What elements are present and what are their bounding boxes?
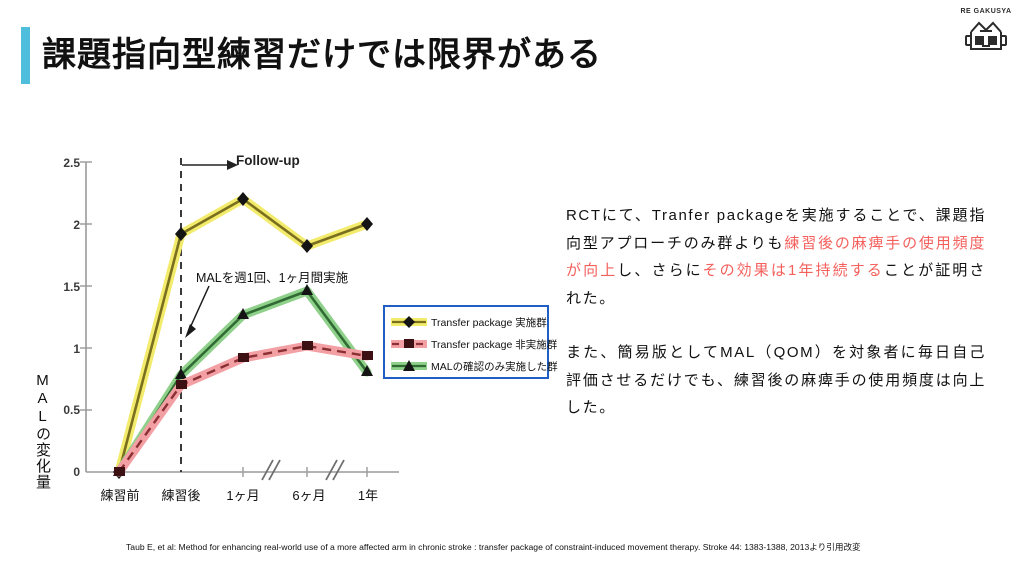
- paragraph-1-highlight-2: その効果は1年持続する: [702, 262, 883, 279]
- legend-label-non-transfer-package: Transfer package 非実施群: [431, 337, 557, 352]
- mal-protocol-arrow: [185, 286, 209, 338]
- legend-item-transfer-package: Transfer package 実施群: [391, 313, 547, 333]
- body-text-block: RCTにて、Tranfer packageを実施することで、課題指向型アプローチ…: [566, 202, 986, 422]
- slide-header: 課題指向型練習だけでは限界がある RE GAKUSYA: [0, 0, 1024, 100]
- x-axis-break-marks: [262, 460, 344, 480]
- paragraph-1: RCTにて、Tranfer packageを実施することで、課題指向型アプローチ…: [566, 202, 986, 312]
- legend-swatch-red-square: [391, 335, 427, 353]
- chart-legend: Transfer package 実施群 Transfer package 非実…: [383, 305, 549, 379]
- page-title: 課題指向型練習だけでは限界がある: [42, 28, 602, 82]
- series-mal-check-markers: [113, 284, 373, 476]
- follow-up-arrow: [182, 160, 238, 170]
- series-transfer-package-halo: [119, 199, 367, 472]
- legend-label-mal-check-only: MALの確認のみ実施した群: [431, 359, 558, 374]
- legend-swatch-yellow-diamond: [391, 313, 427, 331]
- title-accent-bar: [21, 27, 30, 84]
- citation-text: Taub E, et al: Method for enhancing real…: [126, 541, 946, 553]
- legend-swatch-green-triangle: [391, 357, 427, 375]
- legend-item-mal-check-only: MALの確認のみ実施した群: [391, 357, 547, 377]
- legend-label-transfer-package: Transfer package 実施群: [431, 315, 547, 330]
- paragraph-2: また、簡易版としてMAL（QOM）を対象者に毎日自己評価させるだけでも、練習後の…: [566, 339, 986, 422]
- logo-text: RE GAKUSYA: [958, 8, 1014, 15]
- brand-logo: RE GAKUSYA: [958, 8, 1014, 56]
- legend-item-non-transfer-package: Transfer package 非実施群: [391, 335, 547, 355]
- paragraph-1-part-2: し、さらに: [617, 262, 702, 279]
- building-logo-icon: [964, 18, 1008, 54]
- mal-change-line-chart: MALの変化量 2.5 2 1.5 1 0.5 0 練習前 練習後 1ヶ月 6ヶ…: [24, 140, 564, 515]
- series-non-transfer-markers: [114, 341, 373, 476]
